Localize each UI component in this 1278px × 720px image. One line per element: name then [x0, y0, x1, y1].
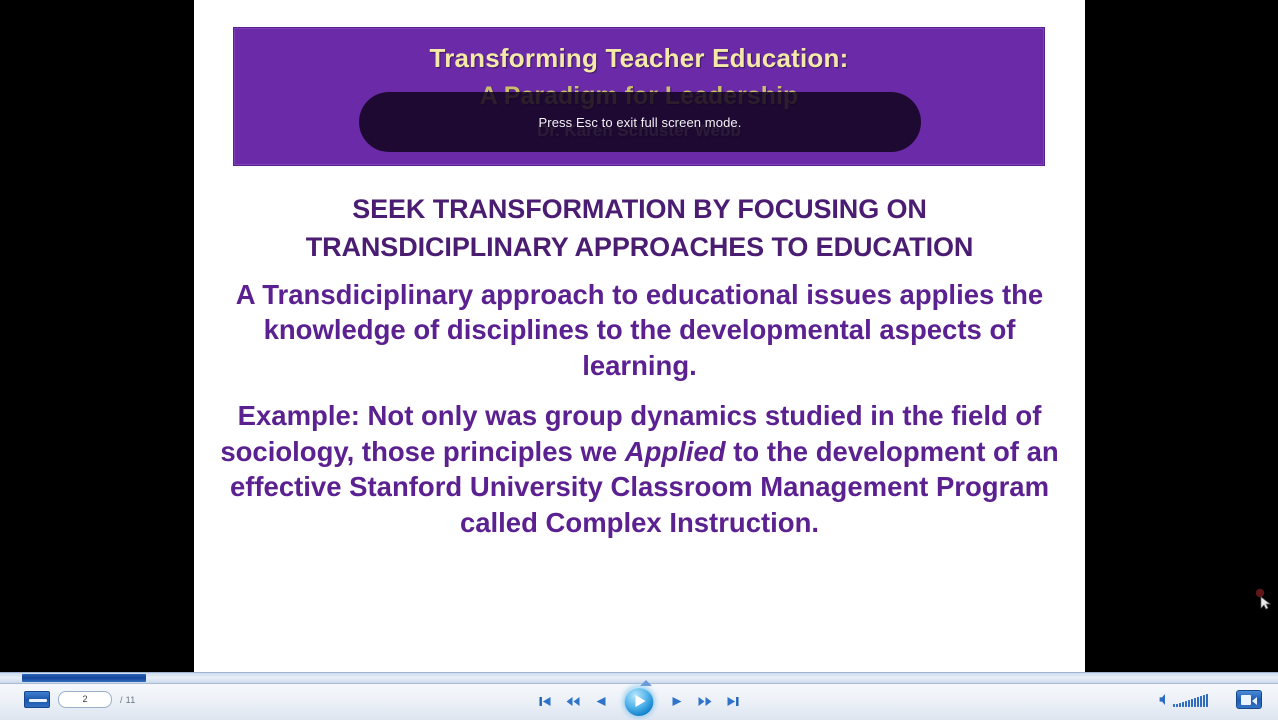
presentation-player-window: Transforming Teacher Education: A Paradi…: [0, 0, 1278, 720]
fullscreen-toggle-icon[interactable]: [1236, 690, 1262, 709]
transport-controls: [538, 687, 741, 716]
speaker-icon: [1159, 693, 1170, 706]
slide-title: Transforming Teacher Education:: [235, 44, 1043, 74]
rewind-icon[interactable]: [566, 694, 581, 709]
fast-forward-icon[interactable]: [698, 694, 713, 709]
step-forward-icon[interactable]: [670, 694, 685, 709]
seek-bar[interactable]: [0, 673, 1278, 684]
example-text-emphasis: Applied: [625, 436, 726, 467]
play-icon[interactable]: [625, 687, 654, 716]
slide-heading-line-2: TRANSDICIPLINARY APPROACHES TO EDUCATION: [212, 228, 1067, 266]
mouse-pointer-icon: [1254, 588, 1272, 610]
presentation-stage: Transforming Teacher Education: A Paradi…: [0, 0, 1278, 672]
page-navigation-group: 2 / 11: [24, 691, 136, 708]
page-number-input[interactable]: 2: [58, 691, 112, 708]
volume-slider[interactable]: [1159, 693, 1208, 707]
page-total-label: / 11: [120, 695, 136, 705]
slide-canvas: Transforming Teacher Education: A Paradi…: [194, 0, 1085, 672]
exit-fullscreen-hint-text: Press Esc to exit full screen mode.: [539, 115, 742, 130]
player-right-controls: [1159, 690, 1262, 709]
slide-paragraph-example: Example: Not only was group dynamics stu…: [212, 398, 1067, 541]
seek-handle[interactable]: [640, 680, 652, 686]
slide-body: SEEK TRANSFORMATION BY FOCUSING ON TRANS…: [212, 190, 1067, 541]
slide-paragraph-definition: A Transdiciplinary approach to education…: [212, 277, 1067, 384]
player-control-bar: 2 / 11: [0, 672, 1278, 720]
step-back-icon[interactable]: [594, 694, 609, 709]
slide-title-banner: Transforming Teacher Education: A Paradi…: [234, 28, 1044, 165]
slide-heading-line-1: SEEK TRANSFORMATION BY FOCUSING ON: [212, 190, 1067, 228]
seek-progress-fill: [22, 674, 146, 682]
outline-panel-icon[interactable]: [24, 691, 50, 708]
skip-to-start-icon[interactable]: [538, 694, 553, 709]
exit-fullscreen-hint-overlay: Press Esc to exit full screen mode.: [359, 92, 921, 152]
skip-to-end-icon[interactable]: [726, 694, 741, 709]
volume-level-bars: [1173, 693, 1208, 707]
